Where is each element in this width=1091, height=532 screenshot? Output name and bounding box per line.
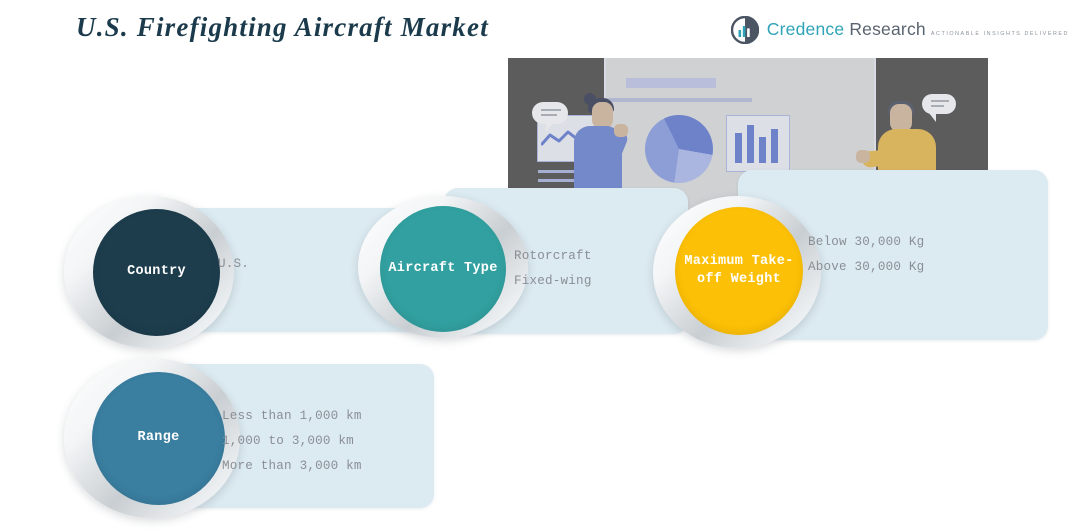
segment-card-maximum-take-off-weight[interactable]: Maximum Take- off Weight Below 30,000 Kg…	[653, 170, 965, 348]
logo-tagline: Actionable Insights Delivered	[931, 31, 1069, 37]
segment-label-line-1: Maximum Take-	[684, 254, 793, 269]
speech-bubble-icon	[532, 102, 568, 124]
logo-word-credence: Credence	[767, 19, 844, 39]
page-title: U.S. Firefighting Aircraft Market	[76, 12, 489, 43]
segment-label-aircraft-type: Aircraft Type	[380, 206, 506, 332]
segment-label-maximum-take-off-weight: Maximum Take- off Weight	[675, 207, 803, 335]
segment-label-country: Country	[93, 209, 220, 336]
logo-word-research: Research	[849, 19, 926, 39]
list-item: U.S.	[218, 252, 249, 277]
segment-card-range[interactable]: Range Less than 1,000 km 1,000 to 3,000 …	[64, 358, 374, 518]
list-item: 1,000 to 3,000 km	[222, 429, 362, 454]
segment-label-line-2: off Weight	[697, 272, 781, 287]
list-item: More than 3,000 km	[222, 454, 362, 479]
bar-chart-icon	[726, 115, 790, 172]
segment-items-country: U.S.	[218, 252, 249, 277]
segment-items-aircraft-type: Rotorcraft Fixed-wing	[514, 244, 592, 294]
board-text-line	[538, 179, 576, 182]
segment-card-aircraft-type[interactable]: Aircraft Type Rotorcraft Fixed-wing	[358, 186, 688, 338]
list-item: Below 30,000 Kg	[808, 230, 924, 255]
segment-items-maximum-take-off-weight: Below 30,000 Kg Above 30,000 Kg	[808, 230, 924, 280]
list-item: Rotorcraft	[514, 244, 592, 269]
segment-card-country[interactable]: Country U.S.	[64, 196, 374, 348]
board-title-bar	[626, 78, 716, 88]
list-item: Above 30,000 Kg	[808, 255, 924, 280]
list-item: Fixed-wing	[514, 269, 592, 294]
segment-label-range: Range	[92, 372, 225, 505]
list-item: Less than 1,000 km	[222, 404, 362, 429]
brand-logo: Credence Research Actionable Insights De…	[731, 16, 1069, 44]
segment-items-range: Less than 1,000 km 1,000 to 3,000 km Mor…	[222, 404, 362, 480]
logo-wordmark: Credence Research	[767, 19, 931, 39]
credence-logo-icon	[731, 16, 759, 44]
